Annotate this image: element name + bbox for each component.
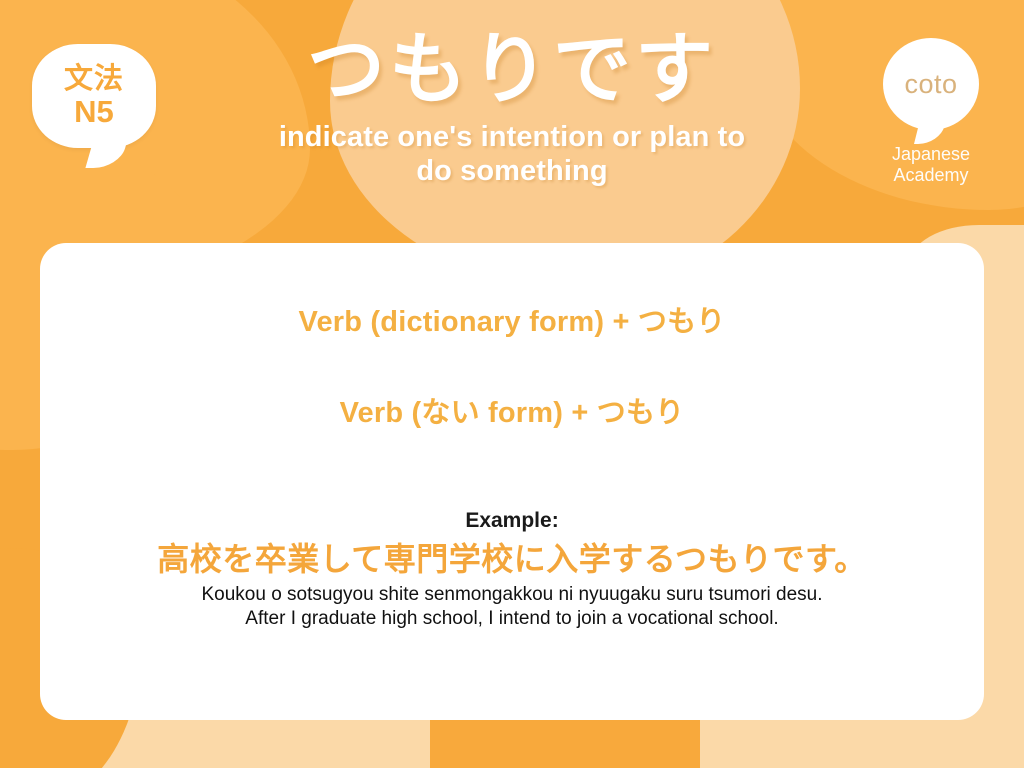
grammar-formula-1: Verb (dictionary form) + つもり [40,305,984,340]
example-translation: After I graduate high school, I intend t… [40,607,984,632]
logo-subtitle: Japanese Academy [892,144,970,186]
example-section: Example: 高校を卒業して専門学校に入学するつもりです。 Koukou o… [40,509,984,632]
logo-subtitle-line1: Japanese [892,144,970,165]
example-romaji: Koukou o sotsugyou shite senmongakkou ni… [40,583,984,608]
logo-subtitle-line2: Academy [892,165,970,186]
badge-level-label: N5 [74,96,114,127]
content-card: Verb (dictionary form) + つもり Verb (ない fo… [40,243,984,720]
example-label: Example: [40,509,984,533]
badge-grammar-label: 文法 [64,65,124,95]
grammar-card-slide: 文法 N5 coto Japanese Academy つもりです indica… [0,0,1024,768]
grammar-level-badge: 文法 N5 [32,44,156,148]
speech-bubble-icon: coto [883,38,979,130]
coto-logo: coto Japanese Academy [856,38,1006,186]
example-japanese-sentence: 高校を卒業して専門学校に入学するつもりです。 [40,539,984,579]
logo-wordmark: coto [904,69,957,100]
grammar-formula-2: Verb (ない form) + つもり [40,396,984,431]
